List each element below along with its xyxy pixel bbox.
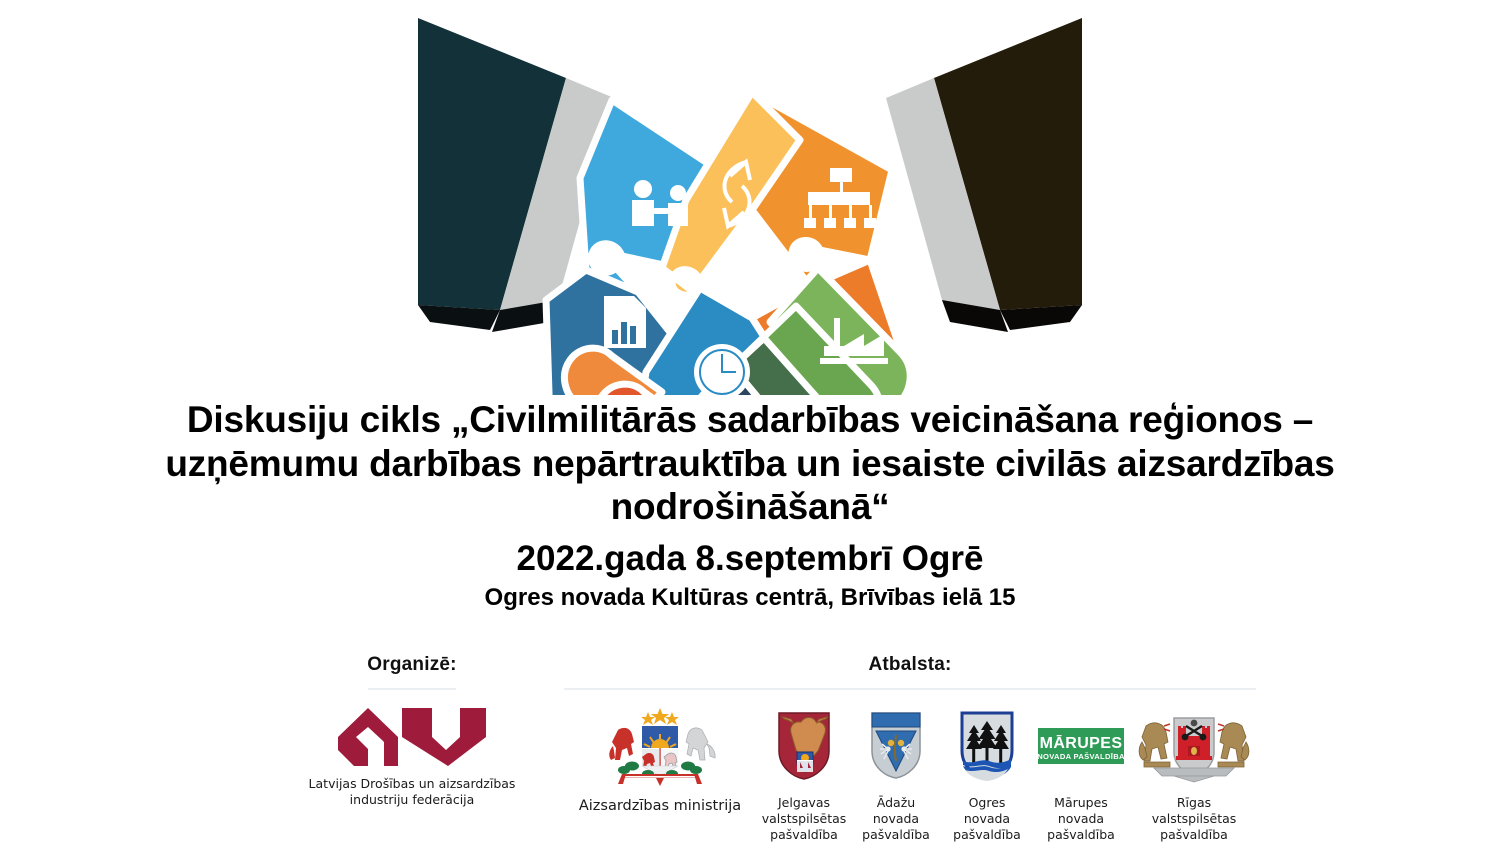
organizers-column: Organizē: Latvijas Drošības un aizsardzī… [296,655,528,807]
bar-chart-document-icon [604,296,646,348]
supporter-item-jelgava: Jelgavas valstspilsētas pašvaldība [758,704,850,844]
event-date: 2022.gada 8.septembrī Ogrē [0,538,1500,580]
supporters-heading: Atbalsta: [545,655,1275,676]
organizers-heading: Organizē: [296,655,528,676]
supporter-caption-marupe: Mārupes novada pašvaldība [1047,795,1115,844]
organizers-divider [368,688,456,690]
supporter-caption-aizsardzibas-ministrija: Aizsardzības ministrija [579,797,741,816]
griffin-figure [686,728,715,760]
ogre-coat-of-arms-icon [958,709,1016,783]
shield [642,726,678,776]
event-venue: Ogres novada Kultūras centrā, Brīvības i… [0,584,1500,613]
page-title: Diskusiju cikls „Civilmilitārās sadarbīb… [0,398,1500,529]
supporter-item-adazi: Ādažu novada pašvaldība [850,704,942,844]
title-line-1: Diskusiju cikls „Civilmilitārās sadarbīb… [187,399,1313,440]
marupe-logo-text-top: MĀRUPES [1040,733,1123,752]
latvia-state-coat-of-arms-icon [596,704,724,788]
jelgava-coat-of-arms-icon [775,709,833,783]
ldaif-caption: Latvijas Drošības un aizsardzības indust… [309,776,516,807]
presentation-slide: Diskusiju cikls „Civilmilitārās sadarbīb… [0,0,1500,860]
inner-shield [797,752,813,772]
supporter-item-marupe: MĀRUPES NOVADA PAŠVALDĪBA Mārupes novada… [1032,704,1130,844]
title-line-3: nodrošināšanā“ [611,486,890,527]
supporters-divider [564,688,1256,690]
ribbon [618,774,702,786]
riga-coat-of-arms-icon [1136,706,1252,786]
supporter-caption-adazi: Ādažu novada pašvaldība [862,795,930,844]
marupe-logo-icon: MĀRUPES NOVADA PAŠVALDĪBA [1038,728,1124,764]
ldaif-logo [336,706,488,768]
logos-section: Organizē: Latvijas Drošības un aizsardzī… [0,655,1500,860]
supporter-item-ogre: Ogres novada pašvaldība [942,704,1032,844]
handshake-puzzle-illustration [0,0,1500,395]
ldaif-caption-line-2: industriju federācija [350,792,475,807]
lion-figure [609,728,634,760]
supporters-row: Aizsardzības ministrija [545,704,1275,844]
title-block: Diskusiju cikls „Civilmilitārās sadarbīb… [0,398,1500,613]
marupe-logo-text-bottom: NOVADA PAŠVALDĪBA [1038,752,1124,761]
supporters-column: Atbalsta: [545,655,1275,844]
supporter-item-aizsardzibas-ministrija: Aizsardzības ministrija [562,704,758,816]
supporter-item-riga: Rīgas valstspilsētas pašvaldība [1130,704,1258,844]
title-line-2: uzņēmumu darbības nepārtrauktība un iesa… [165,443,1334,484]
supporter-caption-jelgava: Jelgavas valstspilsētas pašvaldība [762,795,847,844]
sleeve-right-icon [886,18,1082,332]
ldaif-caption-line-1: Latvijas Drošības un aizsardzības [309,776,516,791]
supporter-caption-riga: Rīgas valstspilsētas pašvaldība [1152,795,1237,844]
adazi-coat-of-arms-icon [868,709,924,783]
supporter-caption-ogre: Ogres novada pašvaldība [953,795,1021,844]
